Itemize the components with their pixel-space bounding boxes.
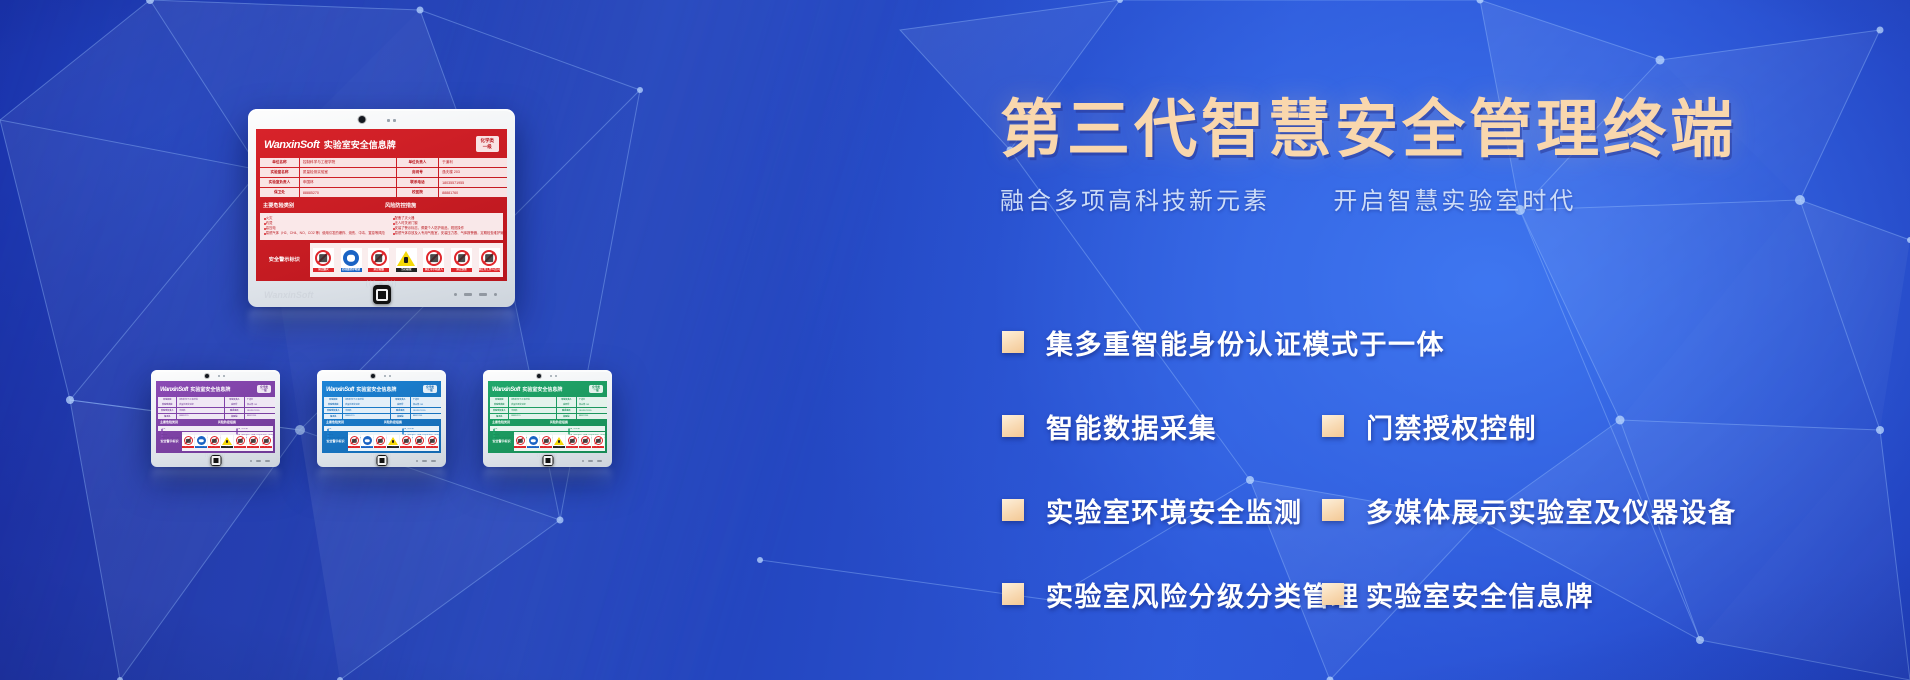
front-camera-icon [358,116,365,123]
feature-item-3-left[interactable]: 实验室风险分级分类管理 [1002,575,1322,614]
home-button[interactable] [373,285,391,304]
prohibition-circle-icon [568,436,577,445]
wear-goggles-icon: 必须戴防护眼镜 [341,248,362,271]
sign-caption: 禁止非工作人员入内 [260,446,272,448]
no-mobile-phone-icon: 禁止带手机进入 [400,435,412,448]
feature-item-0-left[interactable]: 集多重智能身份认证模式于一体 [1002,323,1322,362]
controls-list: 配备了灭火器无人时关闭门窗安装了警示标志，佩戴个人防护用品，规范操作易燃气体存放… [389,213,507,240]
badge-level: 一级 [260,389,268,392]
no-mobile-phone-icon: 禁止带手机进入 [423,248,444,271]
sign-pictogram [527,435,539,446]
wanxinsoft-logo: WanxinSoft [264,139,319,151]
sign-pictogram [514,435,526,446]
no-smoking-icon: 禁止吸烟 [368,248,389,271]
table-value-cell: 88885270 [343,414,390,419]
wear-goggles-icon: 必须戴防护眼镜 [195,435,207,448]
panel-title: 实验室安全信息牌 [522,386,562,393]
sign-pictogram [479,248,500,268]
sign-pictogram [208,435,220,446]
section-body: 火灾灼烫高压电易燃气体（H2、CH4、NO、CO2 等）使用引发的爆炸、烧伤、中… [490,426,605,431]
no-entry-note-icon: 禁止非工作人员入内 [479,248,500,271]
table-row: 单位名称控制科学与工程学院单位负责人于道利 [260,158,503,167]
list-bullet-icon [327,438,329,440]
sign-caption: 禁止非工作人员入内 [592,446,604,448]
hazards-section-title: 主要危险类别 [260,202,381,209]
feature-row: 智能数据采集门禁授权控制 [1002,404,1902,448]
feature-label: 实验室环境安全监测 [1046,491,1303,530]
prohibition-circle-icon [428,436,437,445]
panel-title: 实验室安全信息牌 [190,386,230,393]
table-row: 实验室负责人申国林联系电话18035571955 [158,408,273,413]
table-value-cell: 控制科学与工程学院 [343,397,390,402]
sign-caption: 当心感染 [396,268,417,271]
lab-safety-info-panel: WanxinSoft实验室安全信息牌化学类一级单位名称控制科学与工程学院单位负责… [256,129,507,281]
panel-title: 实验室安全信息牌 [324,138,396,151]
safety-sign-icons: 禁止烟火必须戴防护眼镜禁止吸烟当心感染禁止带手机进入禁止饮食禁止非工作人员入内 [310,243,503,277]
table-label-cell: 单位负责人 [397,158,438,167]
front-camera-icon [537,374,541,378]
lab-info-table: 单位名称控制科学与工程学院单位负责人于道利实验室名称质量检测实验室房间号逸夫楼 … [260,158,503,197]
table-label-cell: 保卫处 [158,414,176,419]
sign-caption: 禁止烟火 [313,268,334,271]
mandatory-circle-icon [197,436,206,445]
sign-pictogram [566,435,578,446]
no-entry-note-icon: 禁止非工作人员入内 [592,435,604,448]
sign-caption: 禁止饮食 [413,446,425,448]
hazards-list: 火灾灼烫高压电易燃气体（H2、CH4、NO、CO2 等）使用引发的爆炸、烧伤、中… [158,426,232,431]
table-label-cell: 房间号 [397,168,438,177]
prohibition-circle-icon [350,436,359,445]
page-title: 第三代智慧安全管理终端 [1000,96,1880,164]
controls-list: 配备了灭火器无人时关闭门窗安装了警示标志，佩戴个人防护用品，规范操作易燃气体存放… [399,426,441,431]
sign-caption: 禁止吸烟 [208,446,220,448]
biohazard-warning-icon: 当心感染 [553,435,565,448]
table-label-cell: 联系电话 [397,178,438,187]
no-smoking-icon: 禁止吸烟 [208,435,220,448]
wear-goggles-icon: 必须戴防护眼镜 [527,435,539,448]
prohibition-circle-icon [376,436,385,445]
table-label-cell: 单位负责人 [391,397,411,402]
info-board-screen[interactable]: WanxinSoft实验室安全信息牌化学类一级单位名称控制科学与工程学院单位负责… [322,381,441,453]
no-food-drink-icon: 禁止饮食 [579,435,591,448]
no-open-flame-icon: 禁止烟火 [514,435,526,448]
sensor-dots [218,375,225,377]
table-value-cell: 88881760 [577,414,607,419]
sign-caption: 禁止饮食 [579,446,591,448]
table-label-cell: 实验室名称 [158,402,176,407]
small-tablet-purple: WanxinSoft实验室安全信息牌化学类一级单位名称控制科学与工程学院单位负责… [151,370,280,467]
sign-pictogram [387,435,399,446]
table-row: 保卫处88885270校医院88881760 [324,414,439,419]
feature-label: 集多重智能身份认证模式于一体 [1046,323,1445,362]
prohibition-circle-icon [415,436,424,445]
table-value-cell: 质量检测实验室 [177,402,224,407]
sign-caption: 禁止烟火 [348,446,360,448]
sign-pictogram [313,248,334,268]
risk-level-badge: 化学类一级 [476,136,500,151]
table-value-cell: 88885270 [509,414,556,419]
table-row: 单位名称控制科学与工程学院单位负责人于道利 [158,397,273,402]
subtitle-left: 融合多项高科技新元素 [1000,188,1270,215]
table-label-cell: 保卫处 [490,414,508,419]
feature-label: 实验室风险分级分类管理 [1046,575,1360,614]
sign-caption: 禁止饮食 [247,446,259,448]
table-row: 实验室负责人申国林联系电话18035571955 [490,408,605,413]
sign-pictogram [260,435,272,446]
table-value-cell: 88881760 [411,414,441,419]
biohazard-warning-icon: 当心感染 [221,435,233,448]
list-bullet-icon [264,233,266,235]
sign-caption: 禁止带手机进入 [234,446,246,448]
main-tablet-device: WanxinSoft实验室安全信息牌化学类一级单位名称控制科学与工程学院单位负责… [248,109,515,307]
warning-triangle-icon [554,437,564,445]
list-bullet-icon [393,228,395,230]
safety-sign-icons: 禁止烟火必须戴防护眼镜禁止吸烟当心感染禁止带手机进入禁止饮食禁止非工作人员入内 [182,432,273,451]
table-label-cell: 实验室负责人 [158,408,176,413]
home-button[interactable] [376,455,387,466]
safety-sign-icons: 禁止烟火必须戴防护眼镜禁止吸烟当心感染禁止带手机进入禁止饮食禁止非工作人员入内 [348,432,439,451]
status-indicator-dots [250,460,270,462]
table-label-cell: 单位名称 [490,397,508,402]
status-indicator-dots [416,460,436,462]
prohibition-circle-icon [516,436,525,445]
bullet-square-icon [1002,415,1024,437]
badge-level: 一级 [426,389,434,392]
bullet-square-icon [1322,499,1344,521]
prohibition-circle-icon [454,250,470,266]
table-value-cell: 88885270 [300,188,396,197]
section-headers: 主要危险类别风险防控措施 [490,420,605,424]
prohibition-circle-icon [594,436,603,445]
sign-caption: 禁止吸烟 [368,268,389,271]
warning-triangle-icon [388,437,398,445]
subtitle-right: 开启智慧实验室时代 [1333,188,1576,215]
table-label-cell: 房间号 [391,402,411,407]
table-value-cell: 逸夫楼 203 [439,168,507,177]
wear-goggles-icon: 必须戴防护眼镜 [361,435,373,448]
lab-safety-info-panel: WanxinSoft实验室安全信息牌化学类一级单位名称控制科学与工程学院单位负责… [488,381,607,453]
home-button[interactable] [542,455,553,466]
table-value-cell: 申国林 [509,408,556,413]
list-bullet-icon [393,223,395,225]
panel-title: 实验室安全信息牌 [356,386,396,393]
sensor-dots [384,375,391,377]
table-label-cell: 单位名称 [324,397,342,402]
sign-pictogram [361,435,373,446]
table-value-cell: 18035571955 [411,408,441,413]
sign-pictogram [426,435,438,446]
table-value-cell: 逸夫楼 203 [245,402,275,407]
front-camera-icon [205,374,209,378]
section-headers: 主要危险类别风险防控措施 [158,420,273,424]
sign-caption: 禁止烟火 [182,446,194,448]
sign-pictogram [234,435,246,446]
table-value-cell: 88881760 [439,188,507,197]
hazards-section-title: 主要危险类别 [490,420,547,424]
table-row: 单位名称控制科学与工程学院单位负责人于道利 [324,397,439,402]
sign-pictogram [400,435,412,446]
table-value-cell: 于道利 [411,397,441,402]
no-food-drink-icon: 禁止饮食 [413,435,425,448]
sign-caption: 必须戴防护眼镜 [527,446,539,448]
sign-pictogram [368,248,389,268]
sensor-dots [550,375,557,377]
hazards-list: 火灾灼烫高压电易燃气体（H2、CH4、NO、CO2 等）使用引发的爆炸、烧伤、中… [260,213,388,240]
hazard-item: 易燃气体（H2、CH4、NO、CO2 等）使用引发的爆炸、烧伤、中毒、窒息等风险 [263,231,385,236]
sign-caption: 禁止烟火 [514,446,526,448]
feature-row: 实验室风险分级分类管理实验室安全信息牌 [1002,572,1902,616]
no-food-drink-icon: 禁止饮食 [451,248,472,271]
biohazard-warning-icon: 当心感染 [396,248,417,271]
section-headers: 主要危险类别风险防控措施 [260,200,503,210]
section-body: 火灾灼烫高压电易燃气体（H2、CH4、NO、CO2 等）使用引发的爆炸、烧伤、中… [158,426,273,431]
table-value-cell: 于道利 [577,397,607,402]
sensor-dots [387,119,396,122]
hazards-list: 火灾灼烫高压电易燃气体（H2、CH4、NO、CO2 等）使用引发的爆炸、烧伤、中… [490,426,564,431]
sign-caption: 当心感染 [387,446,399,448]
table-label-cell: 实验室负责人 [490,408,508,413]
risk-level-badge: 化学类一级 [589,385,603,393]
bullet-square-icon [1002,499,1024,521]
risk-level-badge: 化学类一级 [257,385,271,393]
section-headers: 主要危险类别风险防控措施 [324,420,439,424]
sign-pictogram [182,435,194,446]
controls-section-title: 风险防控措施 [382,202,503,209]
feature-list: 集多重智能身份认证模式于一体智能数据采集门禁授权控制实验室环境安全监测多媒体展示… [1002,320,1902,616]
table-label-cell: 保卫处 [260,188,299,197]
feature-label: 门禁授权控制 [1366,407,1537,446]
hazards-section-title: 主要危险类别 [324,420,381,424]
prohibition-circle-icon [481,250,497,266]
table-value-cell: 质量检测实验室 [300,168,396,177]
wanxinsoft-logo: WanxinSoft [492,387,520,393]
sign-caption: 必须戴防护眼镜 [195,446,207,448]
table-label-cell: 单位名称 [158,397,176,402]
controls-list: 配备了灭火器无人时关闭门窗安装了警示标志，佩戴个人防护用品，规范操作易燃气体存放… [565,426,607,431]
table-label-cell: 单位负责人 [557,397,577,402]
sign-pictogram [451,248,472,268]
feature-item-1-left[interactable]: 智能数据采集 [1002,407,1322,446]
small-tablet-green: WanxinSoft实验室安全信息牌化学类一级单位名称控制科学与工程学院单位负责… [483,370,612,467]
safety-signs-row: 安全警示标识禁止烟火必须戴防护眼镜禁止吸烟当心感染禁止带手机进入禁止饮食禁止非工… [260,243,503,277]
sign-caption: 禁止吸烟 [540,446,552,448]
table-label-cell: 保卫处 [324,414,342,419]
table-label-cell: 实验室负责人 [260,178,299,187]
lab-safety-info-panel: WanxinSoft实验室安全信息牌化学类一级单位名称控制科学与工程学院单位负责… [156,381,275,453]
table-value-cell: 88885270 [177,414,224,419]
feature-row: 集多重智能身份认证模式于一体 [1002,320,1902,364]
sign-caption: 禁止吸烟 [374,446,386,448]
table-label-cell: 联系电话 [557,408,577,413]
bullet-square-icon [1002,583,1024,605]
prohibition-circle-icon [371,250,387,266]
feature-label: 智能数据采集 [1046,407,1217,446]
prohibition-circle-icon [184,436,193,445]
safety-sign-icons: 禁止烟火必须戴防护眼镜禁止吸烟当心感染禁止带手机进入禁止饮食禁止非工作人员入内 [514,432,605,451]
sign-pictogram [341,248,362,268]
sign-caption: 禁止带手机进入 [400,446,412,448]
sign-caption: 禁止非工作人员入内 [426,446,438,448]
sign-caption: 禁止饮食 [451,268,472,271]
wanxinsoft-logo: WanxinSoft [326,387,354,393]
table-label-cell: 校医院 [557,414,577,419]
feature-item-2-right[interactable]: 多媒体展示实验室及仪器设备 [1322,491,1737,530]
hazards-section-title: 主要危险类别 [158,420,215,424]
table-value-cell: 申国林 [343,408,390,413]
sign-pictogram [247,435,259,446]
sign-caption: 禁止带手机进入 [566,446,578,448]
prohibition-circle-icon [210,436,219,445]
table-value-cell: 申国林 [177,408,224,413]
panel-header: WanxinSoft实验室安全信息牌化学类一级 [158,383,273,395]
table-label-cell: 校医院 [397,188,438,197]
sign-pictogram [413,435,425,446]
bullet-square-icon [1002,331,1024,353]
sign-pictogram [348,435,360,446]
info-board-screen[interactable]: WanxinSoft实验室安全信息牌化学类一级单位名称控制科学与工程学院单位负责… [488,381,607,453]
status-indicator-dots [582,460,602,462]
table-label-cell: 单位负责人 [225,397,245,402]
hero-copy: 第三代智慧安全管理终端 融合多项高科技新元素 开启智慧实验室时代 [1000,96,1880,216]
page-subtitle: 融合多项高科技新元素 开启智慧实验室时代 [1000,181,1880,216]
list-bullet-icon [264,228,266,230]
sign-pictogram [396,248,417,268]
list-bullet-icon [393,218,395,220]
controls-section-title: 风险防控措施 [216,420,273,424]
table-value-cell: 申国林 [300,178,396,187]
table-label-cell: 实验室名称 [260,168,299,177]
hazards-list: 火灾灼烫高压电易燃气体（H2、CH4、NO、CO2 等）使用引发的爆炸、烧伤、中… [324,426,398,431]
list-bullet-icon [393,233,395,235]
no-open-flame-icon: 禁止烟火 [313,248,334,271]
prohibition-circle-icon [426,250,442,266]
table-value-cell: 控制科学与工程学院 [177,397,224,402]
feature-label: 多媒体展示实验室及仪器设备 [1366,491,1737,530]
info-board-screen[interactable]: WanxinSoft实验室安全信息牌化学类一级单位名称控制科学与工程学院单位负责… [156,381,275,453]
table-row: 保卫处88885270校医院88881760 [260,188,503,197]
wanxinsoft-logo: WanxinSoft [160,387,188,393]
control-item: 易燃气体存放及入专用气瓶室，安装压力表、气体报警器，定期检查维护管路和仪器，佩戴… [392,231,507,236]
table-value-cell: 18035571955 [245,408,275,413]
sign-pictogram [374,435,386,446]
feature-item-1-right[interactable]: 门禁授权控制 [1322,407,1537,446]
mandatory-circle-icon [529,436,538,445]
table-row: 实验室名称质量检测实验室房间号逸夫楼 203 [260,168,503,177]
table-row: 保卫处88885270校医院88881760 [490,414,605,419]
table-value-cell: 于道利 [439,158,507,167]
bullet-square-icon [1322,415,1344,437]
sign-caption: 必须戴防护眼镜 [341,268,362,271]
no-open-flame-icon: 禁止烟火 [182,435,194,448]
no-open-flame-icon: 禁止烟火 [348,435,360,448]
controls-section-title: 风险防控措施 [382,420,439,424]
sign-caption: 必须戴防护眼镜 [361,446,373,448]
warning-triangle-icon [397,251,415,266]
sign-pictogram [553,435,565,446]
no-entry-note-icon: 禁止非工作人员入内 [260,435,272,448]
table-value-cell: 逸夫楼 203 [577,402,607,407]
home-button[interactable] [210,455,221,466]
table-label-cell: 校医院 [391,414,411,419]
sign-caption: 禁止非工作人员入内 [479,268,500,271]
prohibition-circle-icon [236,436,245,445]
table-value-cell: 质量检测实验室 [343,402,390,407]
warning-triangle-icon [222,437,232,445]
list-bullet-icon [161,438,163,440]
sign-pictogram [195,435,207,446]
no-mobile-phone-icon: 禁止带手机进入 [566,435,578,448]
sign-caption: 禁止带手机进入 [423,268,444,271]
sign-caption: 当心感染 [553,446,565,448]
table-row: 实验室名称质量检测实验室房间号逸夫楼 203 [324,402,439,407]
feature-label: 实验室安全信息牌 [1366,575,1594,614]
table-value-cell: 18035571955 [439,178,507,187]
prohibition-circle-icon [402,436,411,445]
table-label-cell: 房间号 [557,402,577,407]
table-row: 保卫处88885270校医院88881760 [158,414,273,419]
table-label-cell: 实验室负责人 [324,408,342,413]
lab-info-table: 单位名称控制科学与工程学院单位负责人于道利实验室名称质量检测实验室房间号逸夫楼 … [324,397,439,419]
lab-info-table: 单位名称控制科学与工程学院单位负责人于道利实验室名称质量检测实验室房间号逸夫楼 … [158,397,273,419]
lab-safety-info-panel: WanxinSoft实验室安全信息牌化学类一级单位名称控制科学与工程学院单位负责… [322,381,441,453]
controls-section-title: 风险防控措施 [548,420,605,424]
no-food-drink-icon: 禁止饮食 [247,435,259,448]
controls-list: 配备了灭火器无人时关闭门窗安装了警示标志，佩戴个人防护用品，规范操作易燃气体存放… [233,426,275,431]
info-board-screen[interactable]: WanxinSoft实验室安全信息牌化学类一级单位名称控制科学与工程学院单位负责… [256,129,507,281]
feature-item-2-left[interactable]: 实验室环境安全监测 [1002,491,1322,530]
prohibition-circle-icon [581,436,590,445]
table-row: 实验室名称质量检测实验室房间号逸夫楼 203 [490,402,605,407]
badge-level: 一级 [592,389,600,392]
table-row: 实验室负责人申国林联系电话18035571955 [324,408,439,413]
table-label-cell: 实验室名称 [490,402,508,407]
hero-banner: WanxinSoft实验室安全信息牌化学类一级单位名称控制科学与工程学院单位负责… [0,0,1910,680]
table-label-cell: 联系电话 [391,408,411,413]
panel-header: WanxinSoft实验室安全信息牌化学类一级 [260,133,503,155]
table-row: 实验室负责人申国林联系电话18035571955 [260,178,503,187]
no-entry-note-icon: 禁止非工作人员入内 [426,435,438,448]
mandatory-circle-icon [343,250,359,266]
prohibition-circle-icon [262,436,271,445]
sign-pictogram [579,435,591,446]
no-smoking-icon: 禁止吸烟 [374,435,386,448]
table-label-cell: 房间号 [225,402,245,407]
table-row: 实验室名称质量检测实验室房间号逸夫楼 203 [158,402,273,407]
device-brand-label: WanxinSoft [264,290,313,300]
table-value-cell: 逸夫楼 203 [411,402,441,407]
list-bullet-icon [264,223,266,225]
no-mobile-phone-icon: 禁止带手机进入 [234,435,246,448]
list-bullet-icon [264,218,266,220]
sign-pictogram [540,435,552,446]
prohibition-circle-icon [249,436,258,445]
sign-pictogram [423,248,444,268]
badge-level: 一级 [481,144,495,150]
safety-signs-label: 安全警示标识 [260,243,309,277]
prohibition-circle-icon [542,436,551,445]
lab-info-table: 单位名称控制科学与工程学院单位负责人于道利实验室名称质量检测实验室房间号逸夫楼 … [490,397,605,419]
table-value-cell: 88881760 [245,414,275,419]
table-value-cell: 于道利 [245,397,275,402]
bullet-square-icon [1322,583,1344,605]
feature-item-3-right[interactable]: 实验室安全信息牌 [1322,575,1594,614]
feature-row: 实验室环境安全监测多媒体展示实验室及仪器设备 [1002,488,1902,532]
table-label-cell: 校医院 [225,414,245,419]
mandatory-circle-icon [363,436,372,445]
section-body: 火灾灼烫高压电易燃气体（H2、CH4、NO、CO2 等）使用引发的爆炸、烧伤、中… [260,213,503,240]
sign-caption: 当心感染 [221,446,233,448]
prohibition-circle-icon [315,250,331,266]
